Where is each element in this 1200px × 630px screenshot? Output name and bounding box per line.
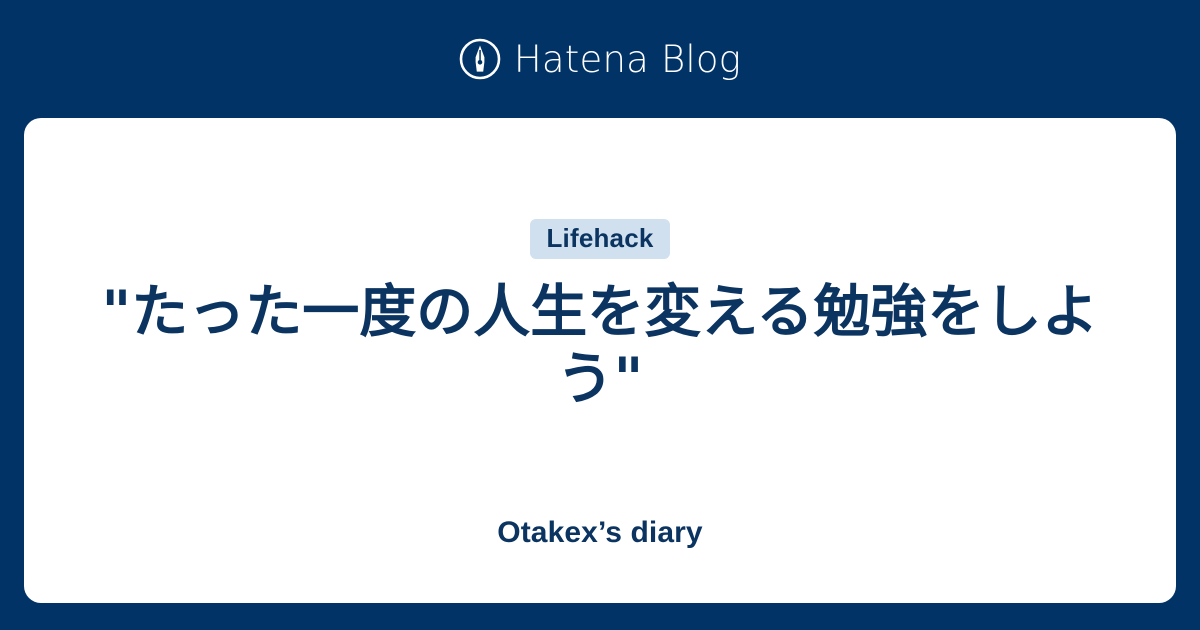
- hatena-pen-nib-icon: [459, 38, 501, 80]
- blog-name[interactable]: Otakex’s diary: [24, 515, 1176, 551]
- category-badge-row: Lifehack: [24, 219, 1176, 259]
- entry-card: Lifehack "たった一度の人生を変える勉強をしよう" Otakex’s d…: [24, 118, 1176, 603]
- og-image-canvas: Hatena Blog Lifehack "たった一度の人生を変える勉強をしよう…: [0, 0, 1200, 630]
- brand-header: Hatena Blog: [0, 0, 1200, 118]
- entry-title: "たった一度の人生を変える勉強をしよう": [84, 279, 1116, 414]
- category-badge[interactable]: Lifehack: [530, 219, 669, 259]
- brand-name: Hatena Blog: [514, 41, 741, 78]
